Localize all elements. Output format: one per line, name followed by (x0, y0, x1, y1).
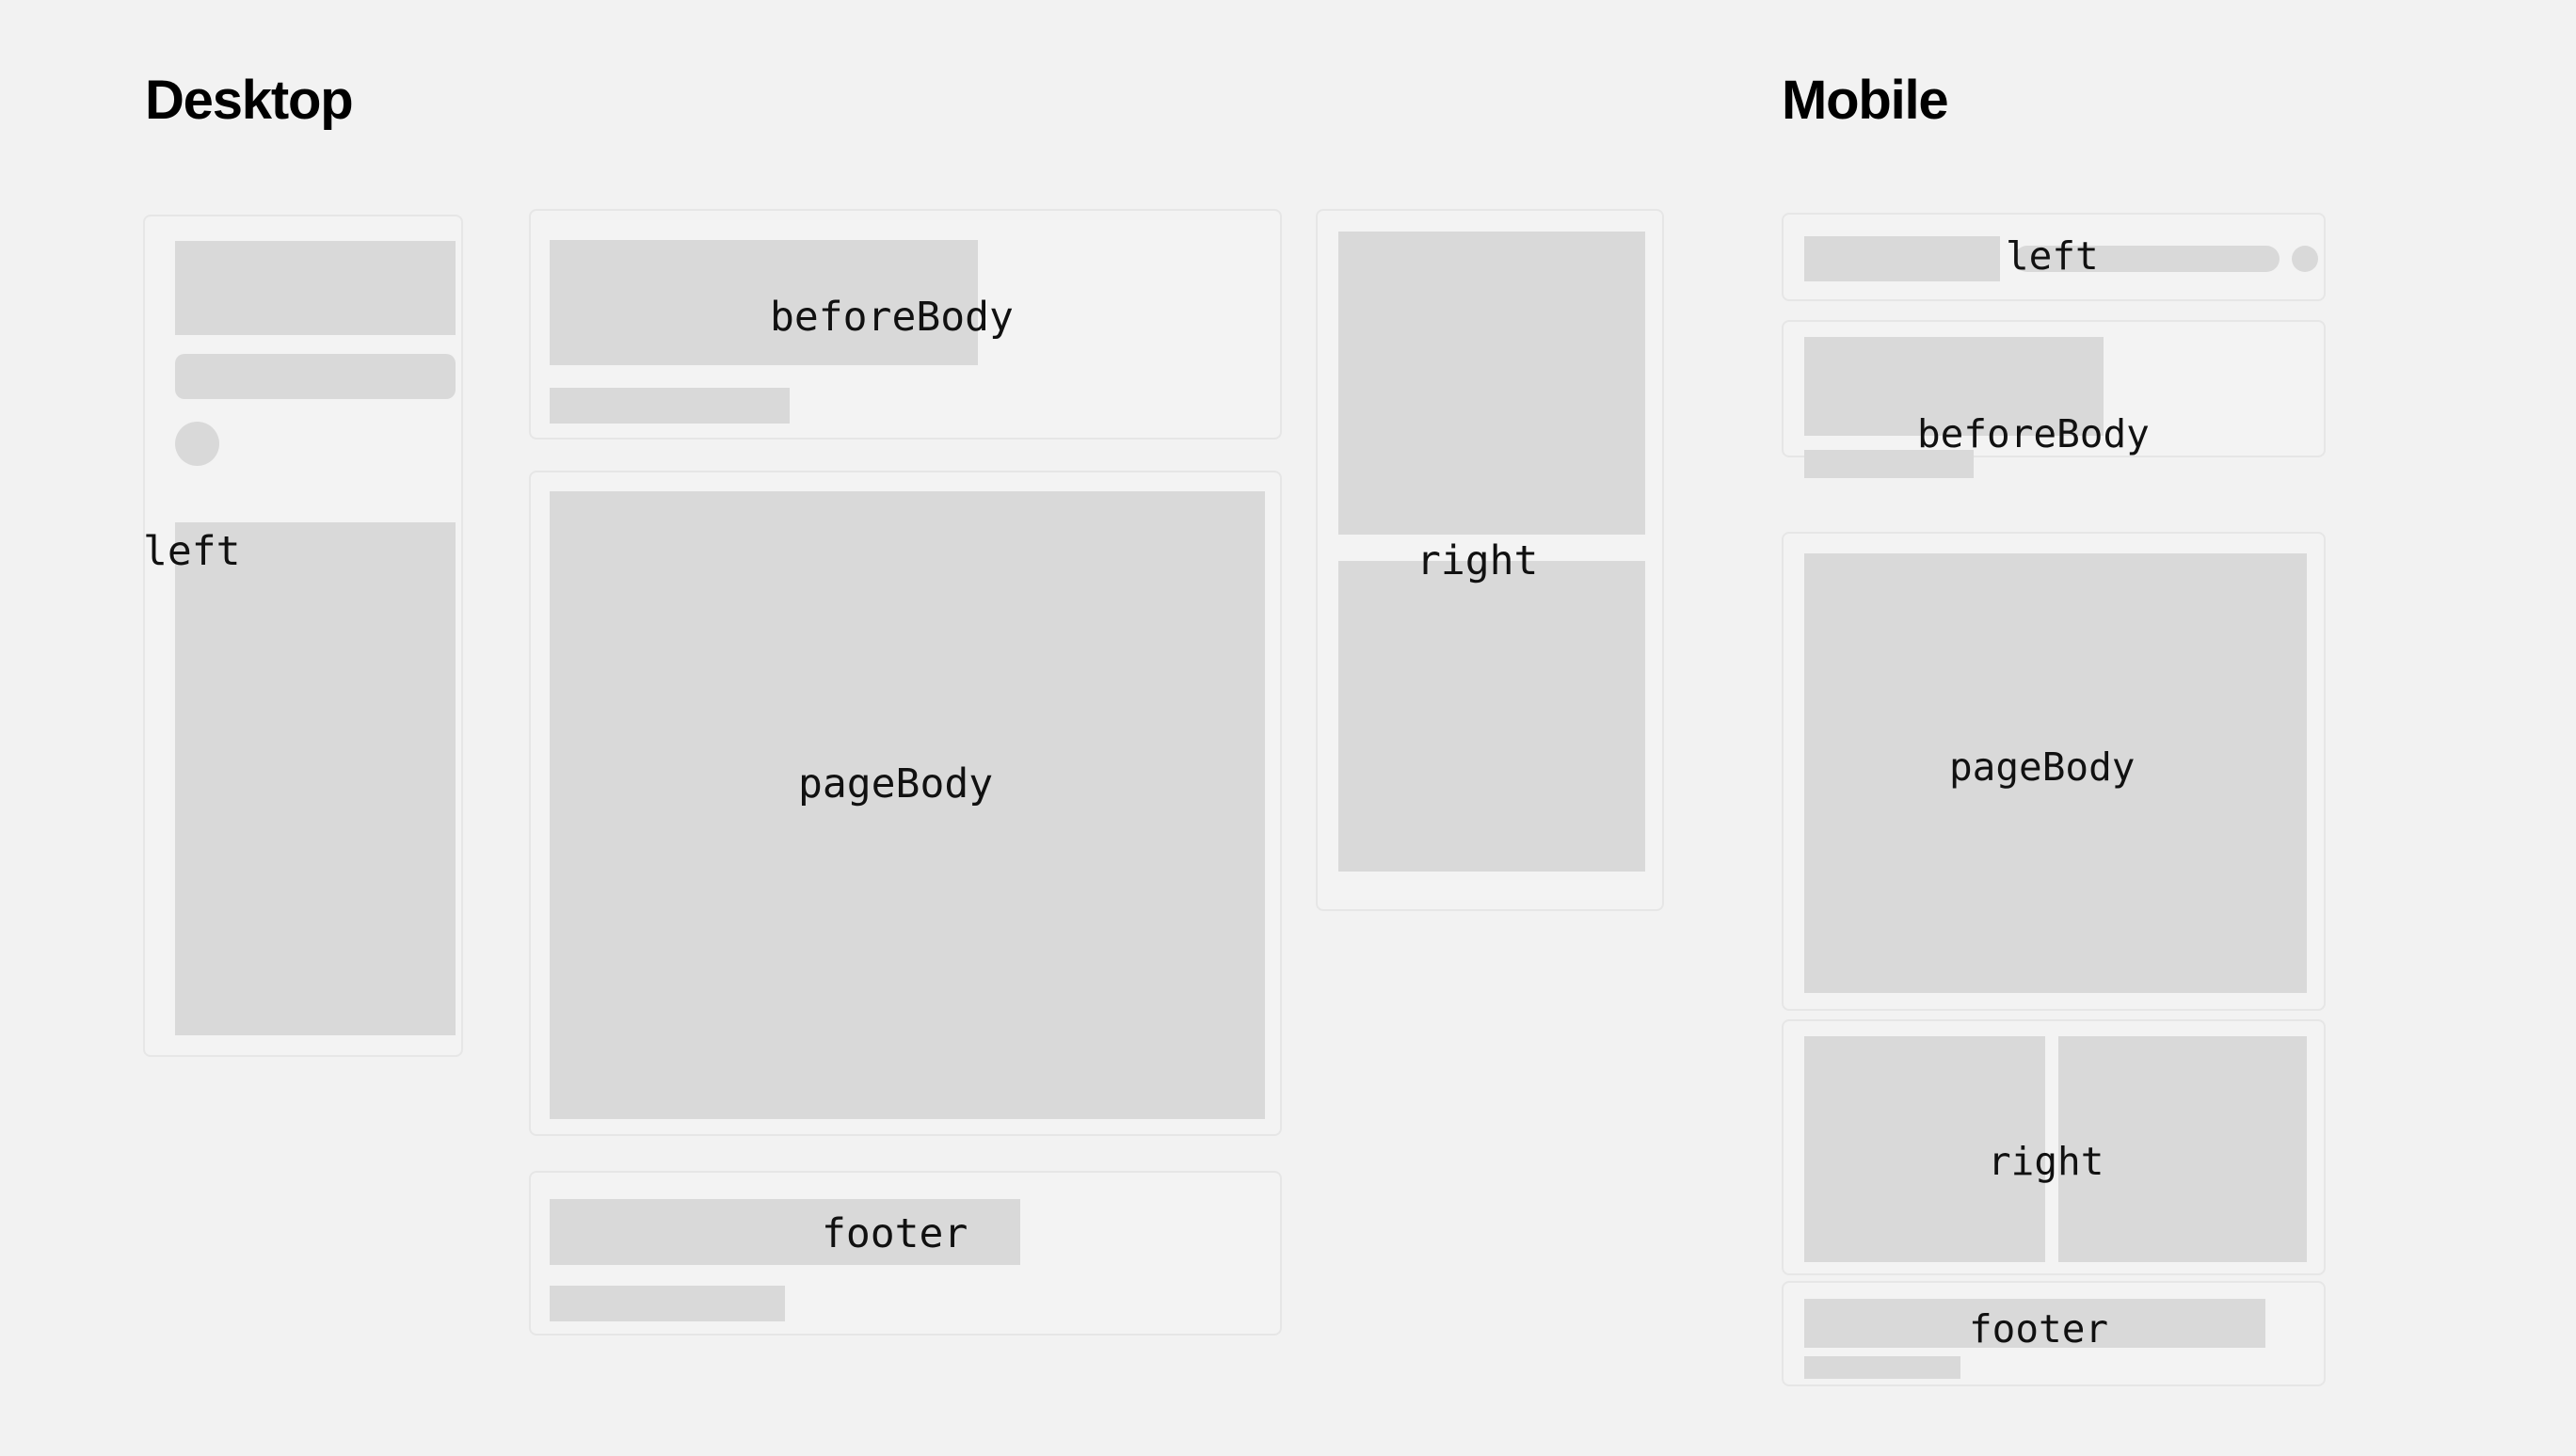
skeleton-bar-short (1804, 450, 1974, 478)
mobile-left-slot-panel[interactable] (1782, 213, 2326, 301)
mobile-section-title: Mobile (1782, 73, 1947, 128)
layout-preview-canvas: Desktop left beforeBody pageBody right f… (0, 0, 2576, 1456)
desktop-section-title: Desktop (145, 73, 352, 128)
mobile-beforebody-slot-panel[interactable] (1782, 320, 2326, 457)
skeleton-block-large (175, 522, 456, 1035)
avatar-circle-icon (175, 422, 219, 466)
skeleton-bar-rounded (2014, 246, 2280, 272)
mobile-footer-slot-panel[interactable] (1782, 1281, 2326, 1386)
skeleton-block-lower (1338, 561, 1645, 872)
skeleton-bar-short (550, 1286, 785, 1321)
skeleton-bar-short (1804, 1356, 1960, 1379)
desktop-pagebody-slot-panel[interactable] (529, 471, 1282, 1136)
skeleton-block-wide (1804, 1299, 2265, 1348)
skeleton-block-square (550, 491, 1265, 1119)
skeleton-block-wide (550, 240, 978, 365)
mobile-right-slot-panel[interactable] (1782, 1019, 2326, 1275)
skeleton-block-wide (1804, 337, 2104, 436)
avatar-circle-icon (2292, 246, 2318, 272)
desktop-footer-slot-panel[interactable] (529, 1171, 1282, 1336)
desktop-right-slot-panel[interactable] (1316, 209, 1664, 911)
desktop-left-slot-panel[interactable] (143, 215, 463, 1057)
mobile-pagebody-slot-panel[interactable] (1782, 532, 2326, 1011)
skeleton-block-upper (1338, 232, 1645, 535)
skeleton-block-square (1804, 553, 2307, 993)
skeleton-block-right-col (2058, 1036, 2307, 1262)
skeleton-block-small (1804, 236, 2000, 281)
skeleton-block-left-col (1804, 1036, 2045, 1262)
skeleton-bar-rounded (175, 354, 456, 399)
desktop-beforebody-slot-panel[interactable] (529, 209, 1282, 440)
skeleton-bar-short (550, 388, 790, 424)
skeleton-block-wide (550, 1199, 1020, 1265)
skeleton-block-tall (175, 241, 456, 335)
